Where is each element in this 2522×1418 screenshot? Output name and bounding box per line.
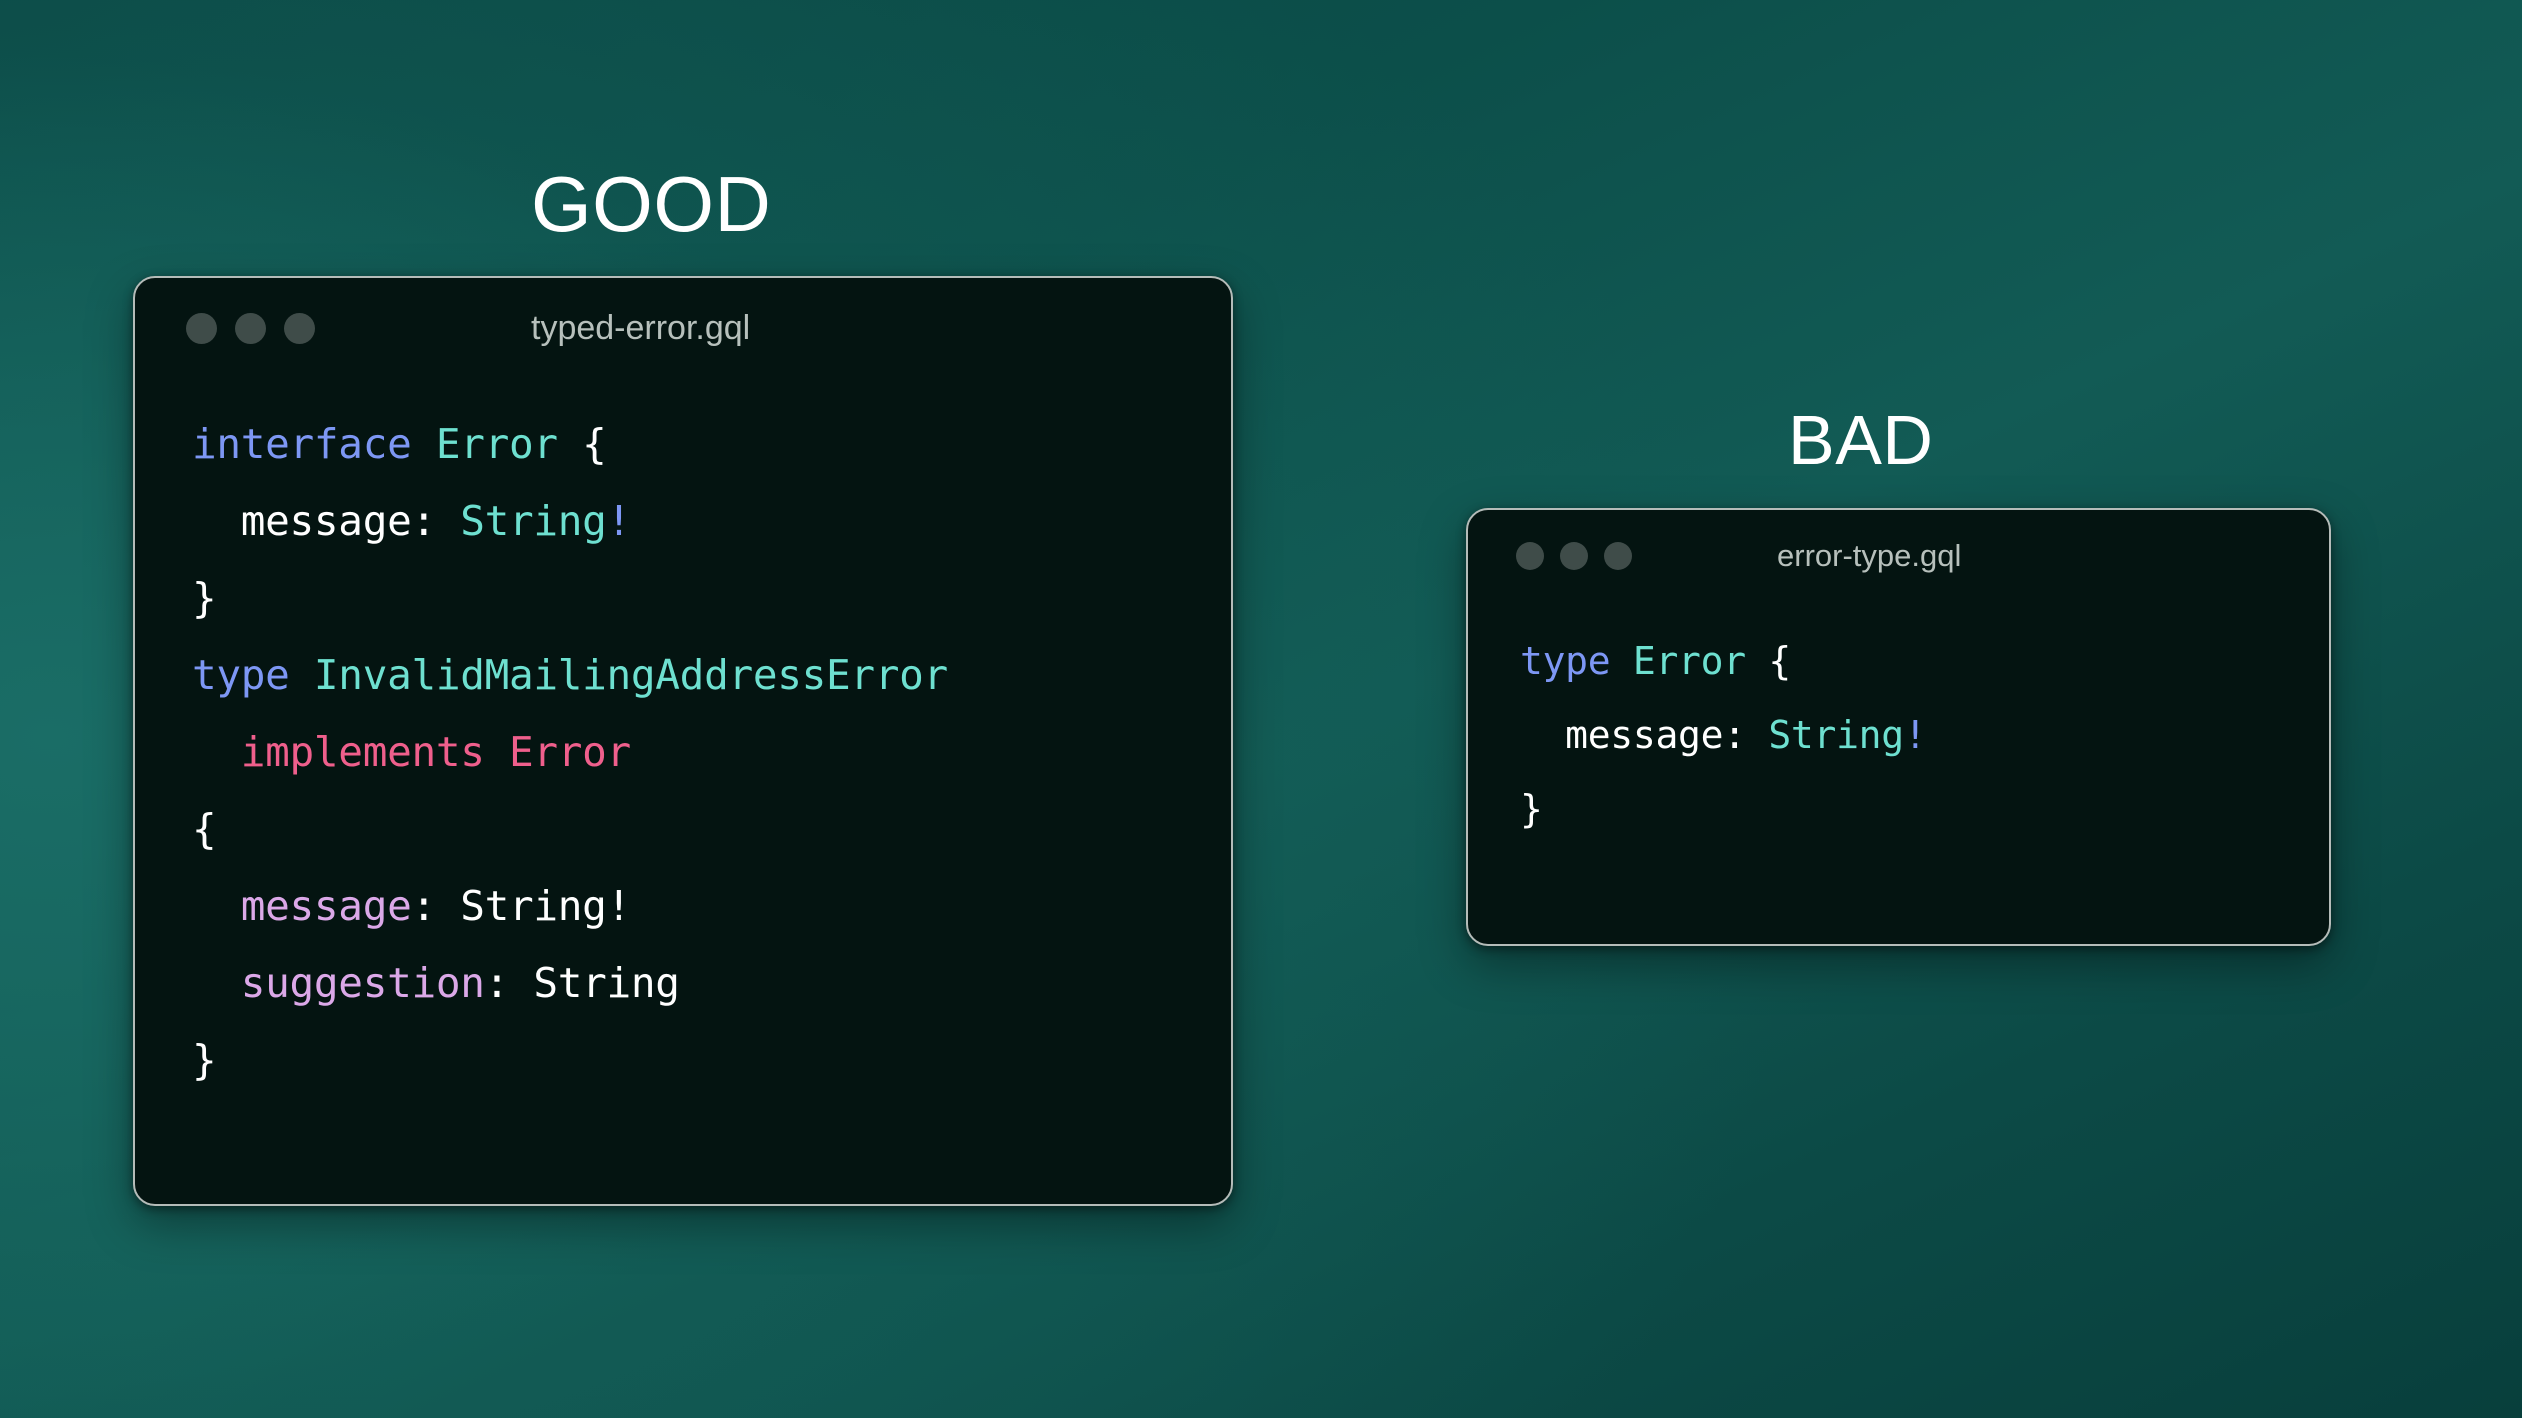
close-dot-icon[interactable]: [1516, 542, 1544, 570]
code-token-punct: :: [411, 497, 460, 545]
window-filename-bad: error-type.gql: [1777, 538, 1961, 574]
code-token-type: InvalidMailingAddressError: [314, 651, 948, 699]
code-line: }: [1520, 772, 2329, 846]
code-line: type InvalidMailingAddressError: [192, 637, 1231, 714]
window-titlebar-bad: error-type.gql: [1468, 510, 2329, 602]
code-token-plain: String!: [460, 882, 631, 930]
code-token-plain: message: [1520, 713, 1723, 757]
minimize-dot-icon[interactable]: [1560, 542, 1588, 570]
code-token-punct: {: [1768, 639, 1791, 683]
code-line: {: [192, 791, 1231, 868]
code-token-plain: String: [533, 959, 679, 1007]
code-token-keyword: !: [1904, 713, 1927, 757]
code-line: implements Error: [192, 714, 1231, 791]
comparison-stage: GOOD typed-error.gql interface Error { m…: [0, 0, 2522, 1418]
code-token-plain: message: [192, 497, 411, 545]
close-dot-icon[interactable]: [186, 313, 217, 344]
code-token-keyword: type: [1520, 639, 1633, 683]
code-line: type Error {: [1520, 624, 2329, 698]
panel-group-bad: BAD error-type.gql type Error { message:…: [1466, 405, 2331, 946]
code-token-keyword: interface: [192, 420, 436, 468]
code-line: message: String!: [1520, 698, 2329, 772]
code-line: message: String!: [192, 868, 1231, 945]
code-token-field: suggestion: [192, 959, 485, 1007]
panel-group-good: GOOD typed-error.gql interface Error { m…: [133, 165, 1233, 1206]
panel-heading-bad: BAD: [1788, 405, 2331, 475]
code-block-good: interface Error { message: String! } typ…: [135, 378, 1231, 1099]
code-line: message: String!: [192, 483, 1231, 560]
minimize-dot-icon[interactable]: [235, 313, 266, 344]
code-token-type: String: [460, 497, 606, 545]
window-controls-bad: [1516, 542, 1632, 570]
code-token-punct: :: [411, 882, 460, 930]
code-token-implements: implements Error: [192, 728, 631, 776]
code-window-bad: error-type.gql type Error { message: Str…: [1466, 508, 2331, 946]
code-window-good: typed-error.gql interface Error { messag…: [133, 276, 1233, 1206]
code-block-bad: type Error { message: String! }: [1468, 602, 2329, 846]
code-token-type: Error: [1633, 639, 1768, 683]
code-token-punct: }: [1520, 787, 1543, 831]
code-token-punct: :: [485, 959, 534, 1007]
code-line: }: [192, 560, 1231, 637]
maximize-dot-icon[interactable]: [284, 313, 315, 344]
maximize-dot-icon[interactable]: [1604, 542, 1632, 570]
window-filename-good: typed-error.gql: [531, 309, 750, 348]
code-token-field: message: [192, 882, 411, 930]
window-titlebar-good: typed-error.gql: [135, 278, 1231, 378]
code-token-punct: {: [192, 805, 216, 853]
code-token-type: String: [1768, 713, 1903, 757]
code-token-keyword: !: [607, 497, 631, 545]
panel-heading-good: GOOD: [531, 165, 1233, 243]
code-token-punct: }: [192, 1036, 216, 1084]
code-token-keyword: type: [192, 651, 314, 699]
code-line: suggestion: String: [192, 945, 1231, 1022]
code-token-punct: {: [582, 420, 606, 468]
code-token-punct: :: [1723, 713, 1768, 757]
code-line: interface Error {: [192, 406, 1231, 483]
code-token-type: Error: [436, 420, 582, 468]
window-controls-good: [186, 313, 315, 344]
code-line: }: [192, 1022, 1231, 1099]
code-token-punct: }: [192, 574, 216, 622]
